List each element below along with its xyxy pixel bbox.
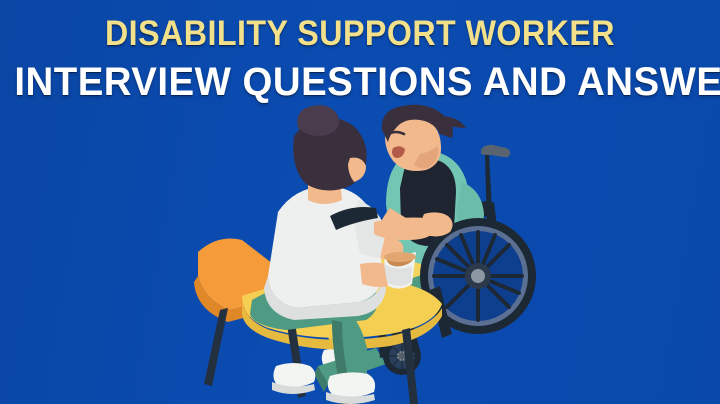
video-thumbnail: DISABILITY SUPPORT WORKER INTERVIEW QUES… <box>0 0 720 404</box>
title-line-primary: DISABILITY SUPPORT WORKER <box>29 16 691 51</box>
cup-in-hand <box>384 252 416 289</box>
title-block: DISABILITY SUPPORT WORKER INTERVIEW QUES… <box>0 16 720 102</box>
title-line-secondary: INTERVIEW QUESTIONS AND ANSWERS <box>14 62 705 102</box>
illustration-support-worker-wheelchair <box>190 104 540 404</box>
